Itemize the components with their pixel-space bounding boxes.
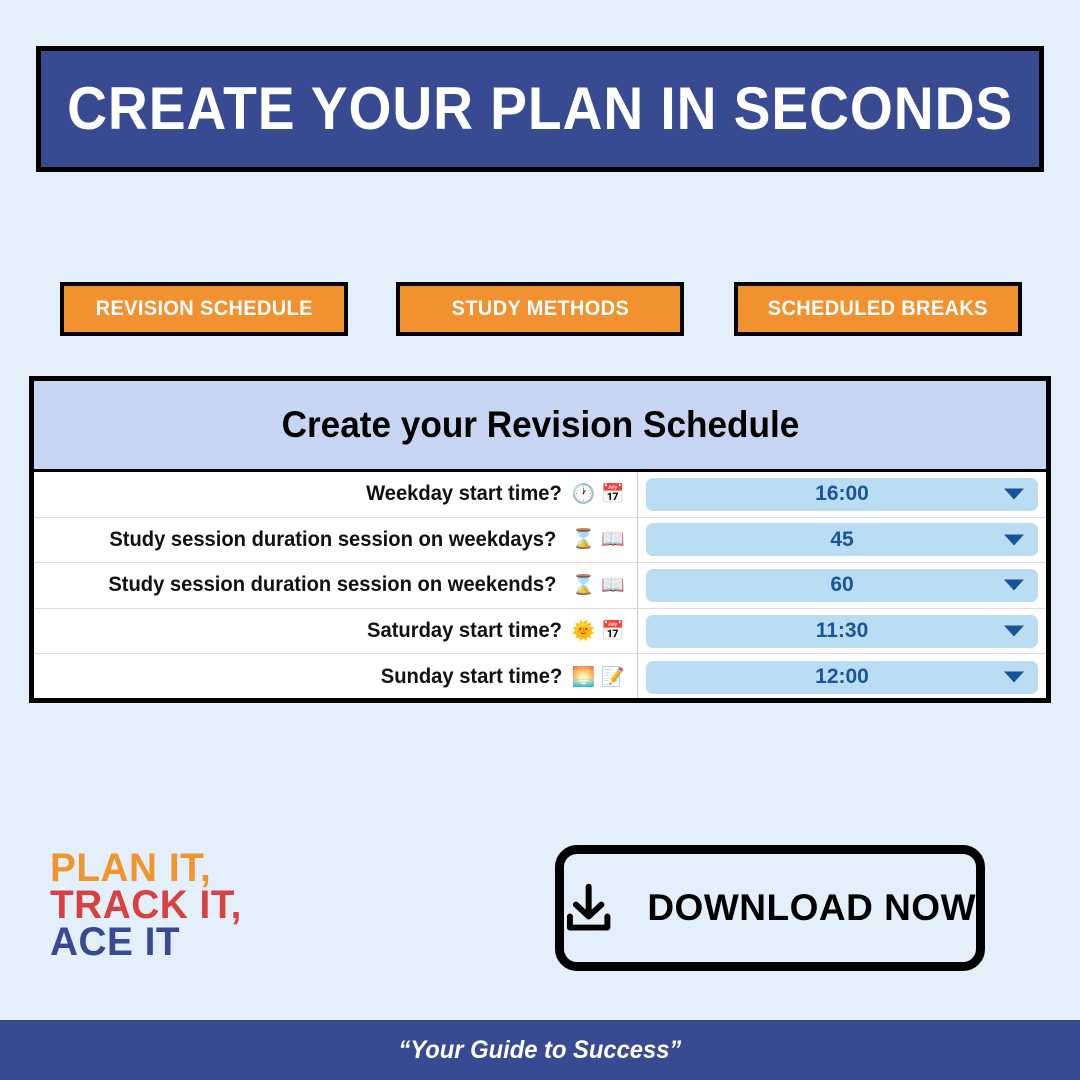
table-row: Sunday start time? 🌅 📝 12:00	[34, 654, 1046, 700]
dropdown-weekday-session-duration[interactable]: 45	[646, 523, 1038, 556]
row-value-cell: 45	[638, 518, 1046, 563]
hourglass-icon: ⌛	[572, 530, 596, 549]
footer-band: “Your Guide to Success”	[0, 1020, 1080, 1080]
dropdown-value: 11:30	[816, 619, 869, 643]
table-header: Create your Revision Schedule	[34, 381, 1046, 472]
category-button-label: REVISION SCHEDULE	[95, 297, 312, 321]
dropdown-value: 60	[830, 573, 853, 597]
table-row: Saturday start time? 🌞 📅 11:30	[34, 609, 1046, 655]
download-now-label: DOWNLOAD NOW	[647, 887, 976, 929]
table-row: Study session duration session on weekda…	[34, 518, 1046, 564]
dropdown-value: 12:00	[815, 665, 869, 689]
tagline-line-1: PLAN IT,	[50, 850, 242, 887]
download-now-button[interactable]: DOWNLOAD NOW	[555, 845, 985, 971]
calendar-icon: 📅	[601, 485, 625, 504]
row-label-cell: Study session duration session on weekda…	[34, 518, 638, 563]
row-label: Sunday start time?	[380, 665, 561, 689]
hourglass-icon: ⌛	[572, 576, 596, 595]
chevron-down-icon[interactable]	[1004, 489, 1024, 500]
chevron-down-icon[interactable]	[1004, 672, 1024, 683]
dropdown-sunday-start-time[interactable]: 12:00	[646, 661, 1038, 694]
dropdown-weekend-session-duration[interactable]: 60	[646, 569, 1038, 602]
schedule-table: Create your Revision Schedule Weekday st…	[29, 376, 1051, 703]
row-label: Saturday start time?	[367, 619, 562, 643]
category-button-scheduled-breaks[interactable]: SCHEDULED BREAKS	[734, 282, 1022, 336]
row-label: Study session duration session on weeken…	[108, 573, 556, 597]
row-label-cell: Sunday start time? 🌅 📝	[34, 654, 638, 700]
row-value-cell: 60	[638, 563, 1046, 608]
table-row: Study session duration session on weeken…	[34, 563, 1046, 609]
footer-text: “Your Guide to Success”	[399, 1036, 682, 1065]
download-icon	[564, 880, 613, 936]
chevron-down-icon[interactable]	[1004, 626, 1024, 637]
row-value-cell: 16:00	[638, 472, 1046, 517]
dropdown-value: 16:00	[815, 482, 869, 506]
chevron-down-icon[interactable]	[1004, 534, 1024, 545]
open-book-icon: 📖	[601, 530, 625, 549]
dropdown-weekday-start-time[interactable]: 16:00	[646, 478, 1038, 511]
row-label: Study session duration session on weekda…	[109, 528, 556, 552]
category-button-label: SCHEDULED BREAKS	[768, 297, 988, 321]
calendar-icon: 📅	[601, 622, 625, 641]
table-row: Weekday start time? 🕐 📅 16:00	[34, 472, 1046, 518]
row-label-cell: Weekday start time? 🕐 📅	[34, 472, 638, 517]
brand-tagline: PLAN IT, TRACK IT, ACE IT	[50, 850, 248, 962]
category-button-label: STUDY METHODS	[451, 297, 628, 321]
sun-with-face-icon: 🌞	[572, 622, 596, 641]
clock-icon: 🕐	[572, 485, 596, 504]
dropdown-saturday-start-time[interactable]: 11:30	[646, 615, 1038, 648]
row-value-cell: 11:30	[638, 609, 1046, 654]
memo-icon: 📝	[601, 668, 625, 687]
row-label-cell: Study session duration session on weeken…	[34, 563, 638, 608]
category-button-study-methods[interactable]: STUDY METHODS	[396, 282, 684, 336]
tagline-line-3: ACE IT	[50, 924, 242, 961]
row-label-cell: Saturday start time? 🌞 📅	[34, 609, 638, 654]
poster-canvas: CREATE YOUR PLAN IN SECONDS REVISION SCH…	[0, 0, 1080, 1080]
open-book-icon: 📖	[601, 576, 625, 595]
category-button-revision-schedule[interactable]: REVISION SCHEDULE	[60, 282, 348, 336]
row-label: Weekday start time?	[366, 482, 562, 506]
chevron-down-icon[interactable]	[1004, 580, 1024, 591]
table-body: Weekday start time? 🕐 📅 16:00 Study sess…	[34, 472, 1046, 700]
sunrise-icon: 🌅	[572, 668, 596, 687]
category-button-row: REVISION SCHEDULE STUDY METHODS SCHEDULE…	[0, 282, 1080, 336]
dropdown-value: 45	[830, 528, 853, 552]
page-title: CREATE YOUR PLAN IN SECONDS	[67, 79, 1013, 139]
row-value-cell: 12:00	[638, 654, 1046, 700]
tagline-line-2: TRACK IT,	[50, 887, 242, 924]
header-banner: CREATE YOUR PLAN IN SECONDS	[36, 46, 1044, 172]
table-title: Create your Revision Schedule	[281, 404, 799, 446]
